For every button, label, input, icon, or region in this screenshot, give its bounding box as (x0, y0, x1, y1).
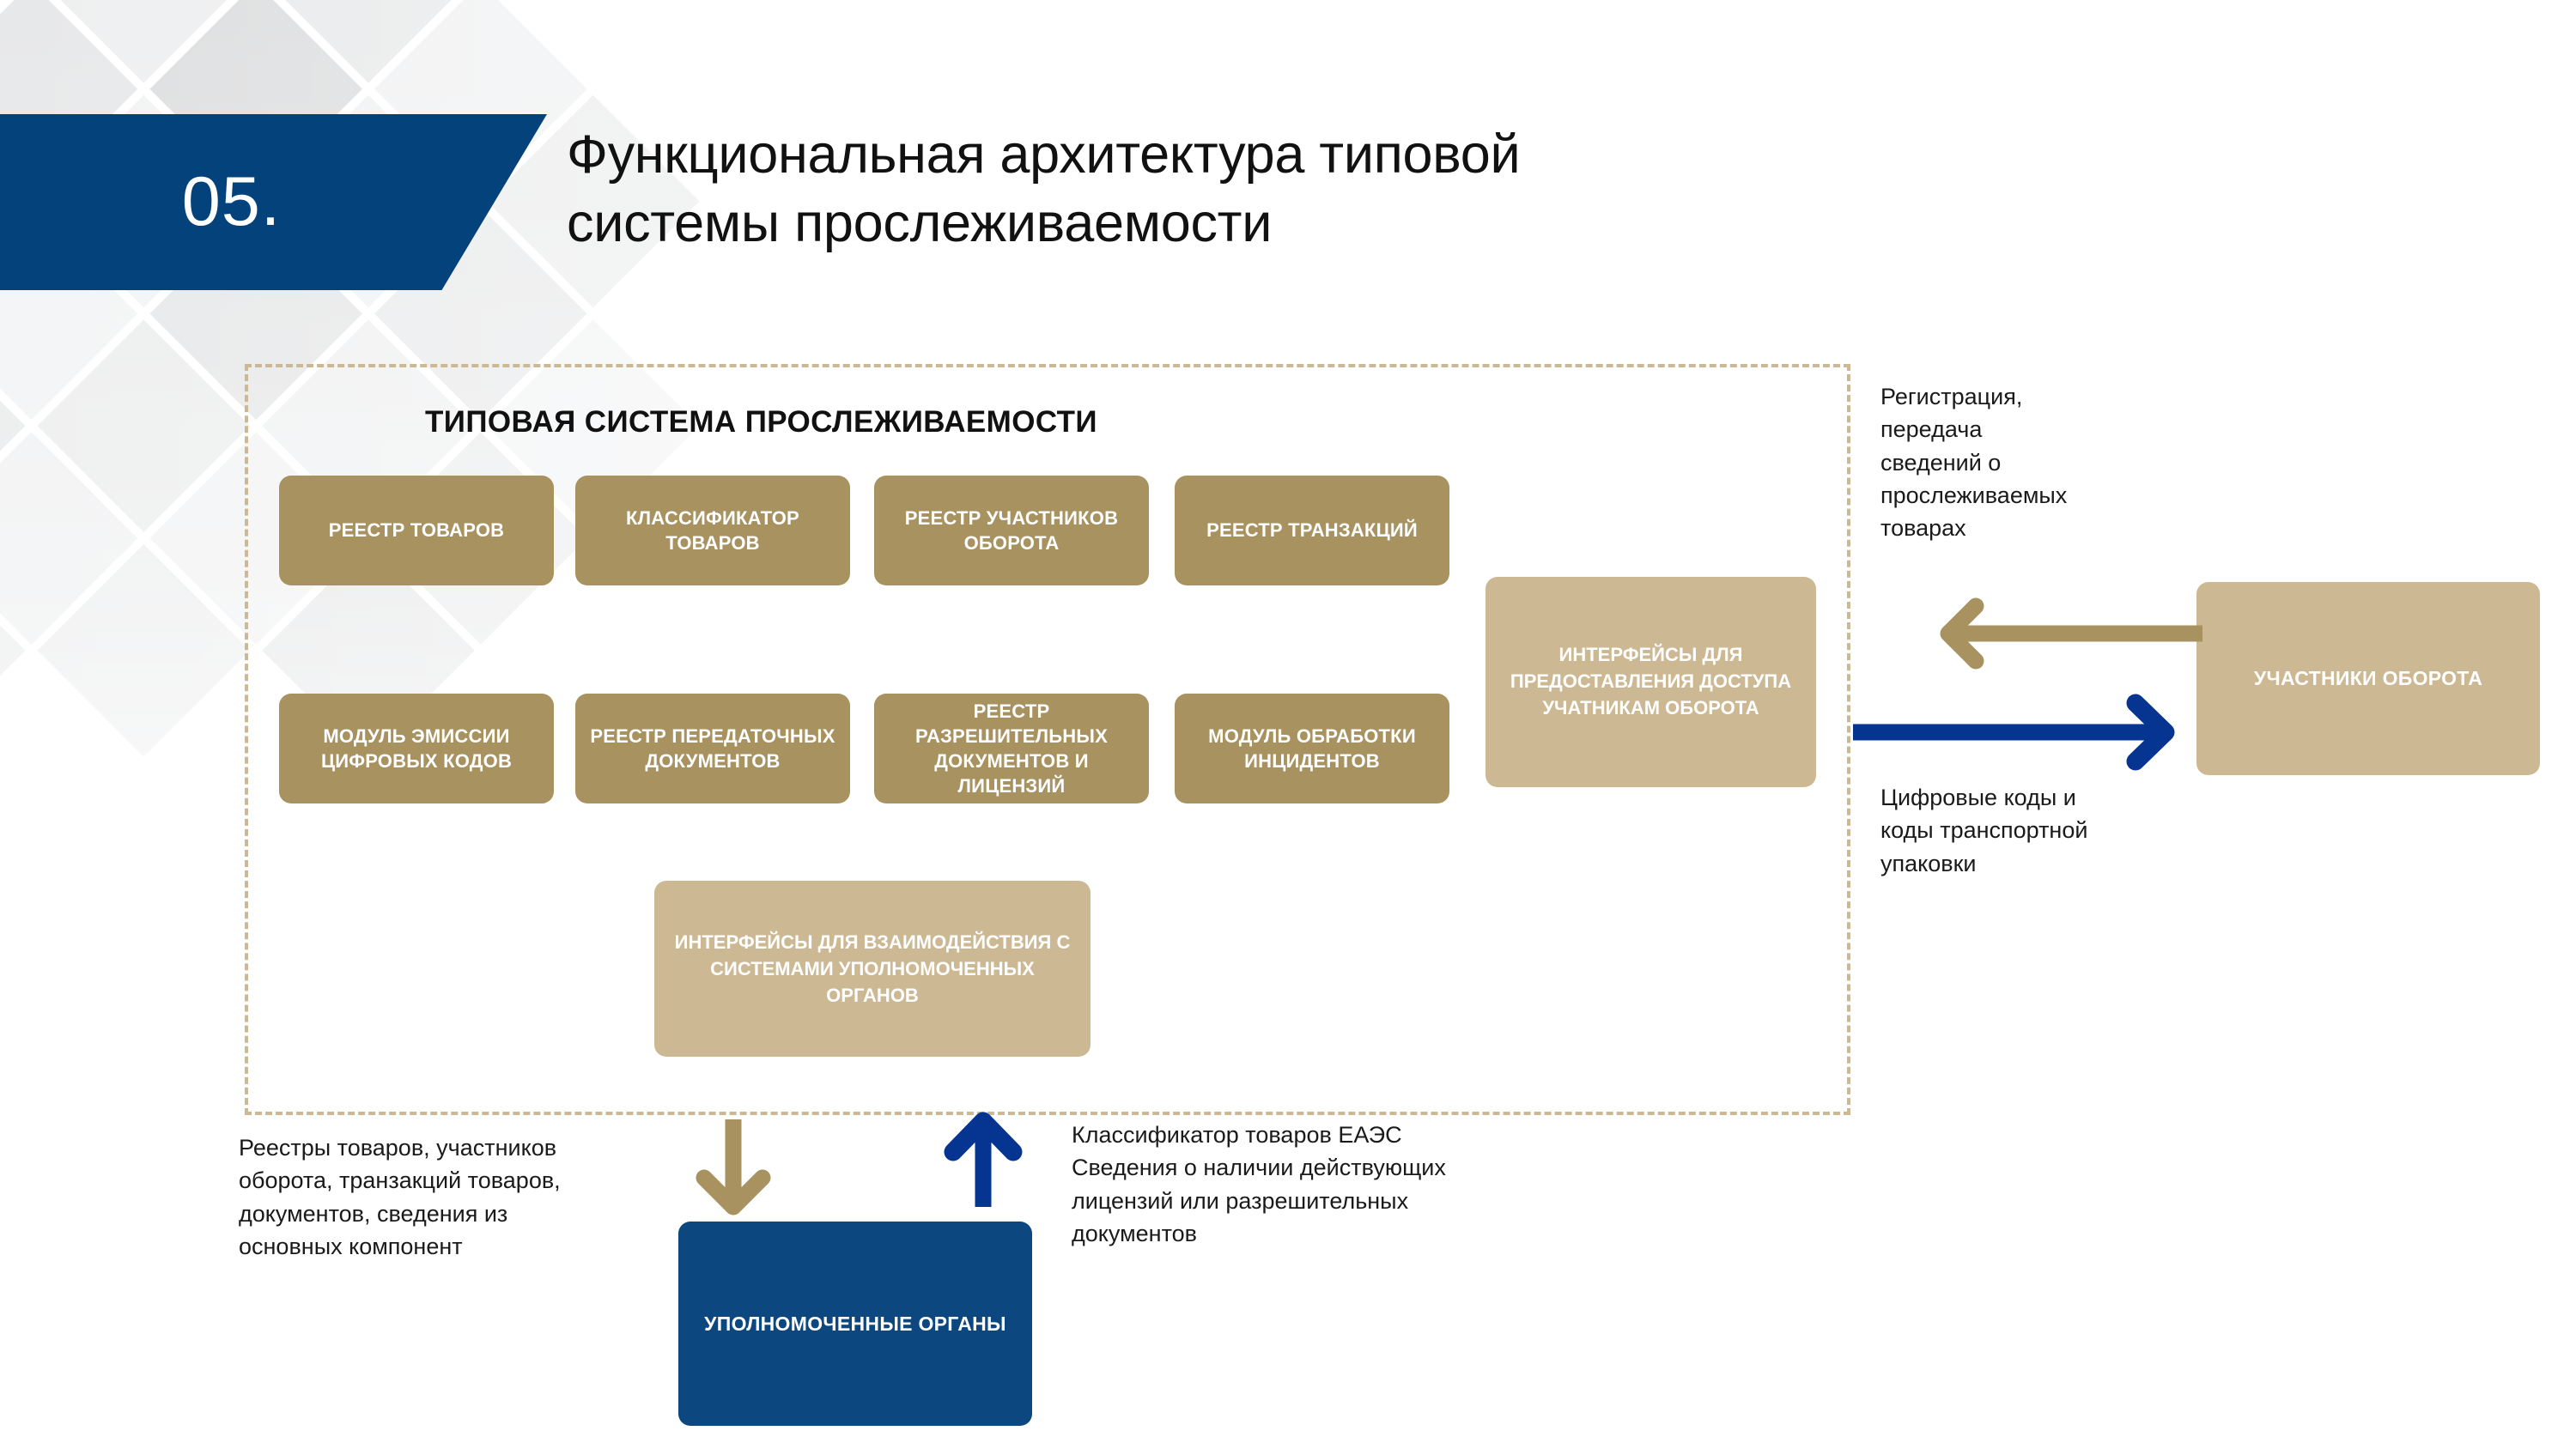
tile-module-incidents[interactable]: МОДУЛЬ ОБРАБОТКИ ИНЦИДЕНТОВ (1175, 694, 1449, 803)
page-title-line-1: Функциональная архитектура типовой (567, 124, 1520, 185)
tile-registry-goods[interactable]: РЕЕСТР ТОВАРОВ (279, 476, 554, 585)
page-title-line-2: системы прослеживаемости (567, 193, 1272, 253)
arrow-down-registries (687, 1116, 781, 1219)
note-digital-codes: Цифровые коды и коды транспортной упаков… (1880, 781, 2172, 880)
arrow-up-classifier (936, 1113, 1030, 1216)
slide-number: 05. (182, 167, 282, 237)
system-heading: ТИПОВАЯ СИСТЕМА ПРОСЛЕЖИВАЕМОСТИ (425, 405, 1097, 440)
arrow-inbound-registration (1902, 601, 2202, 678)
tile-participants[interactable]: УЧАСТНИКИ ОБОРОТА (2196, 582, 2540, 775)
tile-registry-participants[interactable]: РЕЕСТР УЧАСТНИКОВ ОБОРОТА (874, 476, 1149, 585)
note-registration: Регистрация, передача сведений о прослеж… (1880, 380, 2164, 545)
tile-authorities[interactable]: УПОЛНОМОЧЕННЫЕ ОРГАНЫ (678, 1222, 1032, 1426)
page-title: Функциональная архитектура типовой систе… (567, 120, 2198, 258)
slide-canvas: 05. Функциональная архитектура типовой с… (0, 0, 2576, 1449)
arrow-outbound-codes (1848, 691, 2208, 773)
note-registries-out: Реестры товаров, участников оборота, тра… (239, 1131, 677, 1263)
tile-gov-interfaces[interactable]: ИНТЕРФЕЙСЫ ДЛЯ ВЗАИМОДЕЙСТВИЯ С СИСТЕМАМ… (654, 881, 1091, 1057)
slide-number-banner: 05. (0, 114, 547, 290)
note-classifier-in: Классификатор товаров ЕАЭС Сведения о на… (1072, 1119, 1604, 1250)
tile-module-emission[interactable]: МОДУЛЬ ЭМИССИИ ЦИФРОВЫХ КОДОВ (279, 694, 554, 803)
tile-registry-transfer[interactable]: РЕЕСТР ПЕРЕДАТОЧНЫХ ДОКУМЕНТОВ (575, 694, 850, 803)
tile-classifier-goods[interactable]: КЛАССИФИКАТОР ТОВАРОВ (575, 476, 850, 585)
tile-access-interfaces[interactable]: ИНТЕРФЕЙСЫ ДЛЯ ПРЕДОСТАВЛЕНИЯ ДОСТУПА УЧ… (1485, 577, 1816, 787)
tile-registry-permits[interactable]: РЕЕСТР РАЗРЕШИТЕЛЬНЫХ ДОКУМЕНТОВ И ЛИЦЕН… (874, 694, 1149, 803)
tile-registry-transactions[interactable]: РЕЕСТР ТРАНЗАКЦИЙ (1175, 476, 1449, 585)
